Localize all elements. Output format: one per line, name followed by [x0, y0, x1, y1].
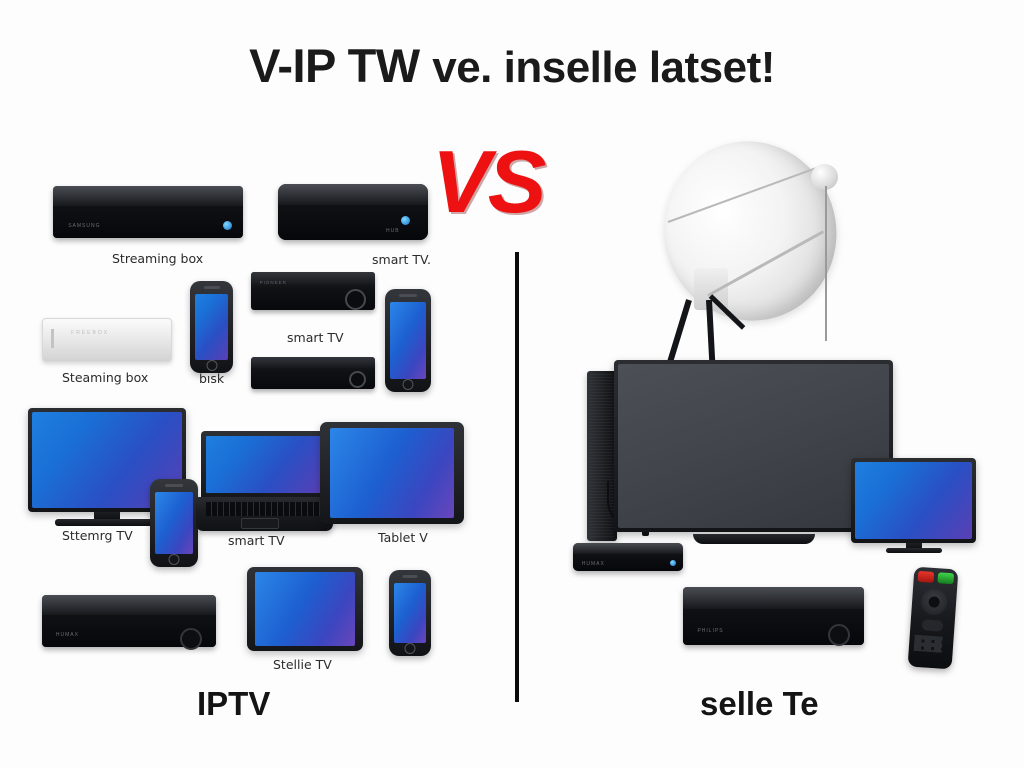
device-lid — [683, 587, 864, 609]
caption-bisk: bısk — [199, 371, 224, 386]
phone-screen — [155, 492, 193, 554]
home-button-icon — [403, 379, 414, 390]
device-brand: SAMSUNG — [68, 223, 100, 229]
device-face: HUMAX — [42, 615, 216, 647]
page-title-part2: ve. inselle latset! — [432, 43, 775, 92]
vertical-divider — [515, 252, 519, 702]
versus-label: VS — [432, 131, 543, 233]
numeric-keypad[interactable] — [914, 635, 943, 653]
red-button[interactable] — [917, 571, 934, 583]
caption-streaming-tv: Sttemrg TV — [62, 528, 133, 543]
right-section-label: selle Te — [700, 685, 819, 723]
av-receiver-lower — [251, 357, 375, 389]
caption-stellie-tv: Stellie TV — [273, 657, 332, 672]
dish-reflector — [639, 118, 860, 344]
device-face: SAMSUNG — [53, 206, 243, 238]
green-button[interactable] — [937, 572, 954, 584]
caption-tablet: Tablet V — [378, 530, 428, 545]
laptop-keyboard-deck — [196, 497, 333, 531]
speaker-grill — [399, 294, 417, 297]
device-slot — [51, 329, 54, 348]
comparison-poster: V-IP TW ve. inselle latset! VS SAMSUNG S… — [0, 0, 1024, 768]
laptop — [196, 431, 333, 531]
device-brand: PIONEER — [260, 280, 287, 285]
caption-smart-tv-2: smart TV — [287, 330, 344, 345]
menu-button[interactable] — [922, 619, 944, 631]
keyboard-keys — [206, 502, 324, 516]
status-led-icon — [670, 560, 676, 566]
phone-screen — [394, 583, 426, 643]
streaming-box-black-top: SAMSUNG — [53, 186, 243, 238]
laptop-lid — [201, 431, 327, 499]
tablet-screen — [330, 428, 454, 518]
device-lid — [53, 186, 243, 206]
tuner-dial-icon — [345, 289, 366, 310]
dish-wire — [825, 186, 827, 341]
tablet — [320, 422, 464, 524]
caption-streaming-box-1: Streaming box — [112, 251, 203, 266]
page-title-part1: V-IP TW — [249, 39, 420, 92]
caption-smart-tv-1: smart TV. — [372, 252, 431, 267]
tablet-bottom — [247, 567, 363, 651]
television-small-blue-stand — [851, 543, 976, 555]
laptop-screen — [206, 436, 322, 493]
caption-smart-tv-3: smart TV — [228, 533, 285, 548]
speaker-grill — [204, 286, 220, 289]
left-section-label: IPTV — [197, 685, 270, 723]
satellite-receiver-large: PHILIPS — [683, 587, 864, 645]
home-button-icon — [405, 643, 416, 654]
device-lid — [573, 543, 683, 554]
smart-tv-box-black: HUB — [278, 184, 428, 240]
satellite-dish — [650, 138, 860, 368]
tv-screen — [855, 462, 972, 539]
caption-streaming-box-2: Steaming box — [62, 370, 148, 385]
status-led-icon — [401, 216, 410, 225]
remote-control[interactable] — [908, 567, 959, 670]
status-led-icon — [223, 221, 232, 230]
device-lid — [278, 184, 428, 205]
smartphone-center — [150, 479, 198, 567]
page-title: V-IP TW ve. inselle latset! — [0, 38, 1024, 93]
smartphone-right — [385, 289, 431, 392]
device-face: HUB — [278, 205, 428, 240]
tv-base — [886, 548, 942, 553]
home-button-icon — [206, 360, 217, 371]
phone-screen — [390, 302, 426, 379]
phone-screen — [195, 294, 228, 360]
device-face: PHILIPS — [683, 609, 864, 645]
tv-screen — [618, 364, 889, 528]
streaming-box-white: FREEBOX — [42, 318, 172, 362]
tv-base — [693, 534, 815, 544]
device-lid — [251, 357, 375, 368]
av-receiver-upper: PIONEER — [251, 272, 375, 310]
tablet-screen — [255, 572, 355, 646]
dpad-icon[interactable] — [920, 588, 948, 616]
device-brand: FREEBOX — [71, 330, 109, 336]
smartphone-left — [190, 281, 233, 373]
speaker-grill — [403, 575, 418, 578]
device-brand: HUB — [386, 228, 400, 234]
television-small-blue — [851, 458, 976, 543]
home-button-icon — [169, 554, 180, 565]
device-brand: PHILIPS — [697, 628, 723, 634]
set-top-box-bottom: HUMAX — [42, 595, 216, 647]
satellite-receiver-small: HUMAX — [573, 543, 683, 571]
trackpad — [241, 518, 279, 529]
device-brand: HUMAX — [582, 561, 605, 567]
tv-base — [55, 519, 159, 526]
device-brand: HUMAX — [56, 632, 79, 638]
power-knob-icon — [828, 624, 850, 646]
tuner-dial-icon — [349, 371, 366, 388]
speaker-grill — [165, 484, 183, 487]
device-face: HUMAX — [573, 554, 683, 571]
device-lid — [42, 595, 216, 615]
power-knob-icon — [180, 628, 202, 650]
smartphone-bottom — [389, 570, 431, 656]
